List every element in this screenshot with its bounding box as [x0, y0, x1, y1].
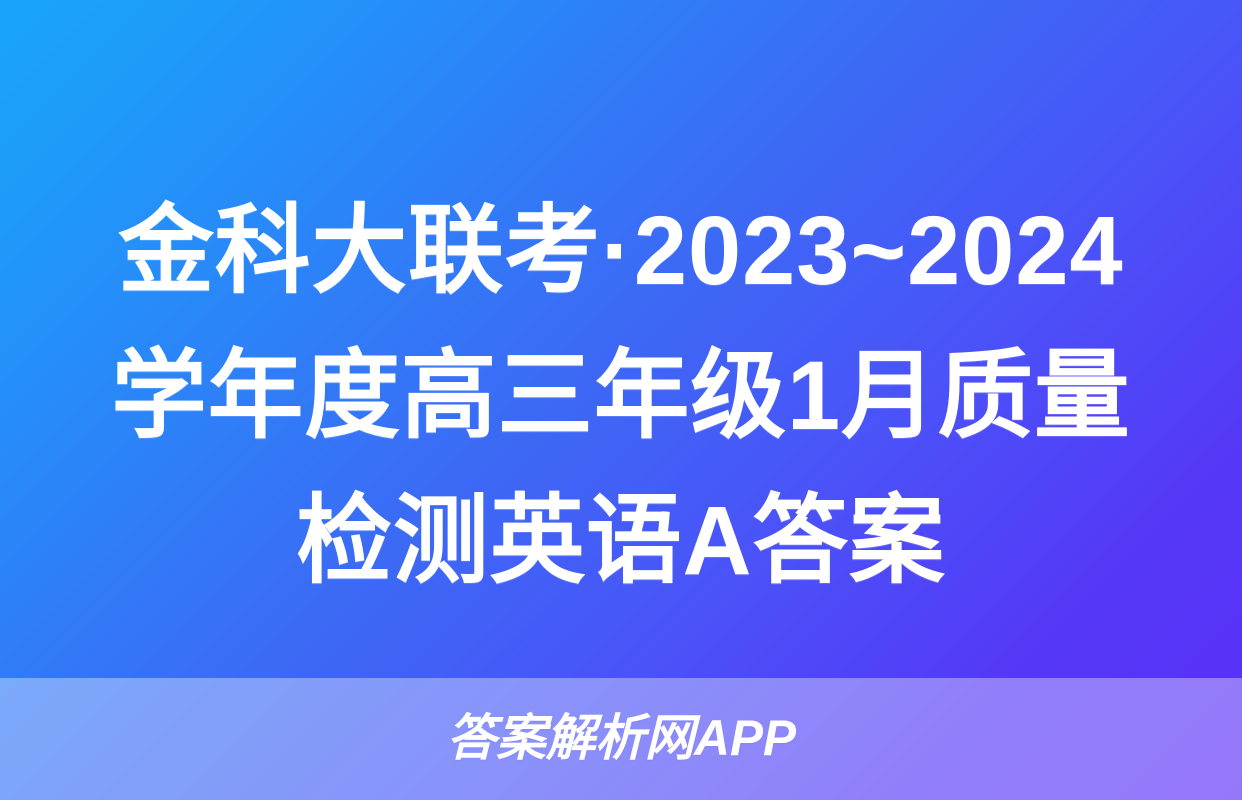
- headline-block: 金科大联考·2023~2024 学年度高三年级1月质量 检测英语A答案: [0, 178, 1242, 613]
- promo-title-card: 金科大联考·2023~2024 学年度高三年级1月质量 检测英语A答案 答案解析…: [0, 0, 1242, 800]
- headline-line-3: 检测英语A答案: [94, 468, 1148, 613]
- footer-watermark-band: 答案解析网APP: [0, 678, 1242, 800]
- headline-line-1: 金科大联考·2023~2024: [94, 178, 1148, 323]
- app-watermark-label: 答案解析网APP: [446, 713, 795, 763]
- headline-line-2: 学年度高三年级1月质量: [94, 323, 1148, 468]
